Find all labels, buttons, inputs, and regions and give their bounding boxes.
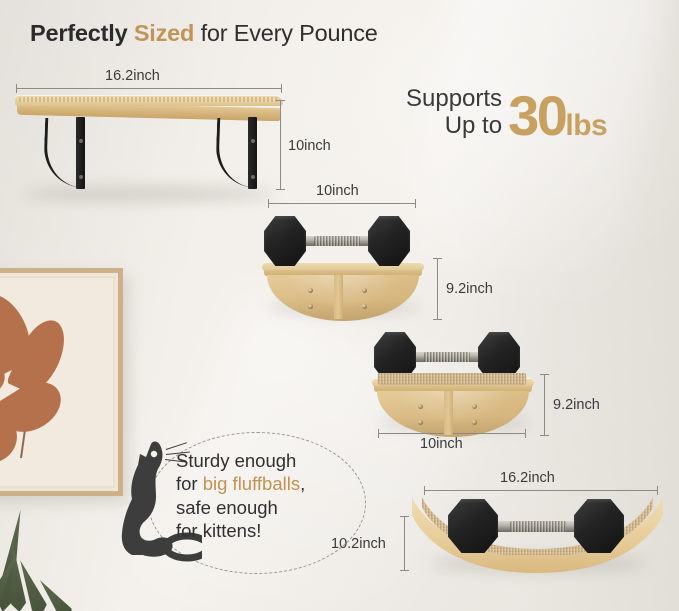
dumbbell-head-left xyxy=(448,499,498,553)
callout-highlight: big fluffballs xyxy=(203,473,300,494)
supports-line-1: Supports xyxy=(406,86,502,113)
callout-line-2-pre: for xyxy=(176,473,203,494)
dimension-label-width-shelf1: 16.2inch xyxy=(105,68,160,84)
shelf-bracket-left xyxy=(43,117,85,189)
wood-grain xyxy=(19,97,277,102)
bracket-screw xyxy=(79,175,83,179)
dimension-line-horizontal xyxy=(424,490,658,491)
dumbbell-knurling xyxy=(314,236,360,246)
dimension-line-vertical xyxy=(404,516,405,571)
page-title: Perfectly Sized for Every Pounce xyxy=(30,20,378,47)
callout-line-2-post: , xyxy=(300,473,305,494)
dimension-line-vertical xyxy=(437,258,438,320)
product-infographic: Perfectly Sized for Every Pounce Support… xyxy=(0,0,679,611)
dimension-line-vertical xyxy=(280,100,281,190)
dumbbell-head-right xyxy=(574,499,624,553)
callout-line-2: for big fluffballs, xyxy=(176,472,305,495)
dimension-label-depth-shelf3: 9.2inch xyxy=(553,397,600,413)
upper-half-round-shelf xyxy=(262,262,424,324)
dimension-label-width-shelf3: 10inch xyxy=(420,436,463,452)
shelf-screw xyxy=(362,288,367,293)
dimension-line-vertical xyxy=(544,374,545,436)
art-canvas xyxy=(0,276,115,488)
shelf-screw xyxy=(472,404,477,409)
capacity-number: 30 xyxy=(508,84,565,147)
supports-text: Supports Up to xyxy=(406,86,508,140)
dumbbell-knurling xyxy=(510,521,566,532)
shelf-half-round-body xyxy=(377,391,529,437)
supports-capacity-block: Supports Up to 30lbs xyxy=(406,86,607,140)
dimension-label-width-shelf4: 16.2inch xyxy=(500,470,555,486)
shelf-screw xyxy=(418,420,423,425)
dimension-label-depth-shelf2: 9.2inch xyxy=(446,281,493,297)
callout-line-4: for kittens! xyxy=(176,519,305,542)
dumbbell-head-left xyxy=(264,216,306,266)
shelf-center-support xyxy=(334,275,343,319)
capacity-unit: lbs xyxy=(565,109,607,142)
shelf-screw xyxy=(308,288,313,293)
dimension-label-width-shelf2: 10inch xyxy=(316,183,359,199)
shelf-bracket-right xyxy=(215,117,257,189)
callout-line-1: Sturdy enough xyxy=(176,449,305,472)
top-rectangular-shelf xyxy=(15,95,283,195)
callout-text: Sturdy enough for big fluffballs, safe e… xyxy=(176,449,305,542)
title-part-2: for Every Pounce xyxy=(201,20,378,46)
dimension-line-horizontal xyxy=(268,203,416,204)
shelf-screw xyxy=(472,420,477,425)
sisal-mat xyxy=(378,373,526,384)
shelf-screw xyxy=(362,304,367,309)
shelf-top-surface xyxy=(15,95,283,106)
light-streak xyxy=(400,0,669,307)
bracket-screw xyxy=(79,139,83,143)
bracket-screw xyxy=(251,175,255,179)
title-highlight: Sized xyxy=(134,20,194,46)
shelf-center-support xyxy=(444,391,453,435)
framed-art xyxy=(0,268,123,496)
supports-line-2: Up to xyxy=(406,113,502,140)
lower-half-round-shelf xyxy=(372,378,534,440)
dumbbell-lower xyxy=(448,497,624,553)
dimension-label-depth-shelf1: 10inch xyxy=(288,138,331,154)
dumbbell-knurling xyxy=(424,352,470,362)
dumbbell-upper xyxy=(264,214,410,266)
cat-eye xyxy=(151,451,157,457)
shelf-screw xyxy=(308,304,313,309)
callout-line-3: safe enough xyxy=(176,496,305,519)
bracket-screw xyxy=(251,139,255,143)
title-part-1: Perfectly xyxy=(30,20,127,46)
shelf-screw xyxy=(418,404,423,409)
shelf-half-round-body xyxy=(267,275,419,321)
dumbbell-head-right xyxy=(368,216,410,266)
dimension-line-horizontal xyxy=(16,88,282,89)
capacity-value-group: 30lbs xyxy=(508,90,607,142)
